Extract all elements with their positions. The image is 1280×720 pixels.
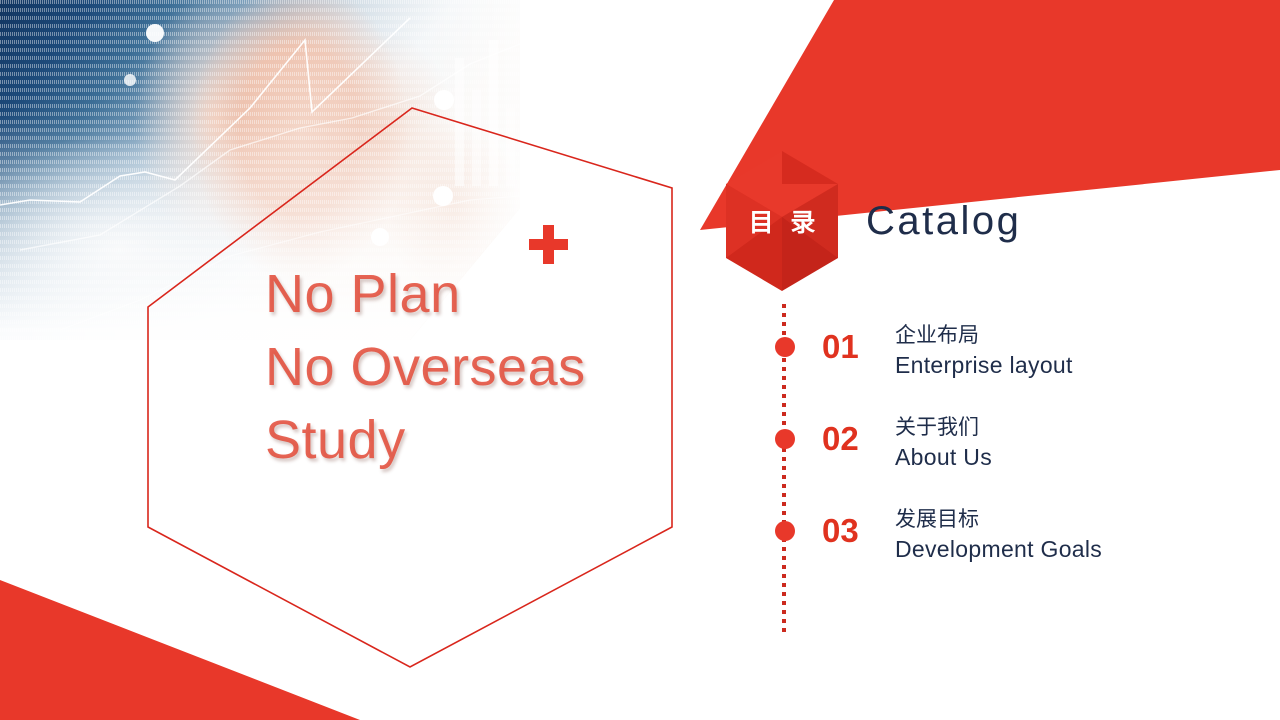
timeline-dot-icon bbox=[775, 429, 795, 449]
catalog-list: 01 企业布局 Enterprise layout 02 关于我们 About … bbox=[760, 320, 1240, 596]
catalog-item-number: 03 bbox=[822, 512, 859, 550]
catalog-header: 目 录 Catalog bbox=[726, 150, 1021, 292]
catalog-item-number: 01 bbox=[822, 328, 859, 366]
plus-icon bbox=[529, 225, 568, 264]
catalog-item-title-en: Enterprise layout bbox=[895, 352, 1073, 378]
catalog-item-title-cn: 企业布局 bbox=[895, 323, 979, 347]
catalog-badge-label: 目 录 bbox=[726, 151, 838, 291]
catalog-item-01[interactable]: 01 企业布局 Enterprise layout bbox=[760, 320, 1240, 412]
timeline-dot-icon bbox=[775, 337, 795, 357]
catalog-item-02[interactable]: 02 关于我们 About Us bbox=[760, 412, 1240, 504]
catalog-title: Catalog bbox=[866, 199, 1021, 244]
catalog-item-title-cn: 发展目标 bbox=[895, 507, 979, 531]
catalog-item-title-en: About Us bbox=[895, 444, 992, 470]
catalog-item-03[interactable]: 03 发展目标 Development Goals bbox=[760, 504, 1240, 596]
catalog-item-title-cn: 关于我们 bbox=[895, 415, 979, 439]
catalog-item-number: 02 bbox=[822, 420, 859, 458]
timeline-dot-icon bbox=[775, 521, 795, 541]
catalog-cube-badge: 目 录 bbox=[726, 151, 838, 291]
page-title: No Plan No Overseas Study bbox=[265, 258, 685, 477]
catalog-item-title-en: Development Goals bbox=[895, 536, 1102, 562]
presentation-slide: No Plan No Overseas Study 目 录 Catalog 01 bbox=[0, 0, 1280, 720]
